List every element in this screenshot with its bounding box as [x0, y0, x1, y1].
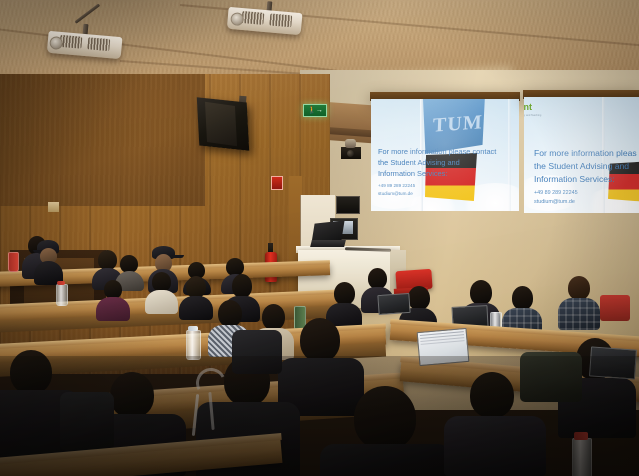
slide-line-2: the Student Advising and — [534, 160, 639, 173]
student-body — [320, 444, 452, 476]
slide-text-block-right: For more information pleas the Student A… — [534, 147, 639, 206]
student-body — [179, 296, 213, 320]
lecture-hall-photo: 🚶→ TUM For more information please conta… — [0, 0, 639, 476]
student-body — [96, 297, 130, 321]
projector-vent — [241, 11, 264, 25]
tum-int-logo: int TUM Center for Study and Teaching — [524, 103, 532, 112]
student-head — [186, 276, 206, 298]
tum-logo-subtitle: TUM Center for Study and Teaching — [524, 114, 541, 117]
exit-icon: 🚶→ — [308, 107, 323, 114]
exit-sign: 🚶→ — [303, 104, 327, 117]
slide-email: studium@tum.de — [378, 190, 518, 197]
student-head — [470, 280, 492, 305]
projector-vent — [59, 35, 82, 49]
slide-line-1: For more information please contact — [378, 146, 518, 157]
open-laptop[interactable] — [417, 328, 470, 366]
student-head — [98, 250, 117, 270]
student-head — [568, 276, 590, 300]
lectern-laptop-base[interactable] — [310, 240, 346, 247]
bottle-cap — [57, 281, 65, 285]
water-bottle — [572, 438, 592, 476]
backpack — [60, 392, 114, 450]
laptop-screen-content — [420, 331, 464, 336]
wall-plate — [48, 202, 59, 212]
slide-phone: +49 89 289 22245 — [378, 182, 518, 190]
student-head — [408, 286, 430, 310]
student-head — [334, 282, 355, 305]
student-head — [152, 272, 171, 292]
slide-line-3: Information Services: — [378, 168, 518, 179]
water-bottle — [8, 252, 19, 272]
backpack — [232, 330, 282, 374]
student-head — [262, 304, 285, 330]
open-laptop[interactable] — [377, 293, 410, 315]
student-head — [300, 318, 340, 362]
student-body — [444, 416, 546, 476]
backpack — [520, 352, 582, 402]
student-body — [558, 298, 600, 330]
slide-phone: +49 89 289 22245 — [534, 189, 639, 198]
student-head-foreground — [354, 386, 416, 450]
student-body — [145, 290, 178, 314]
student-head — [232, 274, 252, 298]
student-head — [512, 286, 533, 310]
student-head-foreground — [470, 372, 514, 418]
projection-screen-right: int TUM Center for Study and Teaching Fo… — [524, 97, 639, 213]
bottle-cap — [574, 432, 588, 440]
tum-logo-suffix: int — [524, 103, 532, 112]
slide-line-2: the Student Advising and — [378, 157, 518, 168]
loudspeaker-grille — [205, 102, 237, 147]
cap-brim — [170, 255, 184, 258]
camera-icon — [345, 139, 356, 148]
water-bottle — [186, 330, 201, 360]
ceiling-projector-left — [47, 23, 123, 59]
water-bottle — [56, 284, 68, 306]
slide-email: studium@tum.de — [534, 198, 639, 206]
student-head — [368, 268, 387, 289]
bottle-cap — [188, 326, 198, 331]
projector-vent — [269, 13, 292, 27]
open-laptop[interactable] — [589, 346, 637, 379]
slide-line-1: For more information pleas — [534, 147, 639, 160]
wall-mounted-display — [336, 196, 360, 214]
slide-text-block-left: For more information please contact the … — [378, 146, 518, 197]
projector-vent — [87, 37, 110, 51]
projection-screen-left: TUM For more information please contact … — [371, 99, 519, 211]
red-chair-right[interactable] — [600, 295, 630, 321]
slide-line-3: Information Services: — [534, 173, 639, 186]
fire-alarm-icon[interactable] — [271, 176, 283, 190]
student-head — [218, 300, 242, 327]
tum-flag-wordmark: TUM — [432, 111, 483, 137]
student-head-foreground — [10, 350, 52, 394]
student-head-foreground — [110, 372, 154, 418]
camera-lens-icon — [347, 150, 354, 157]
